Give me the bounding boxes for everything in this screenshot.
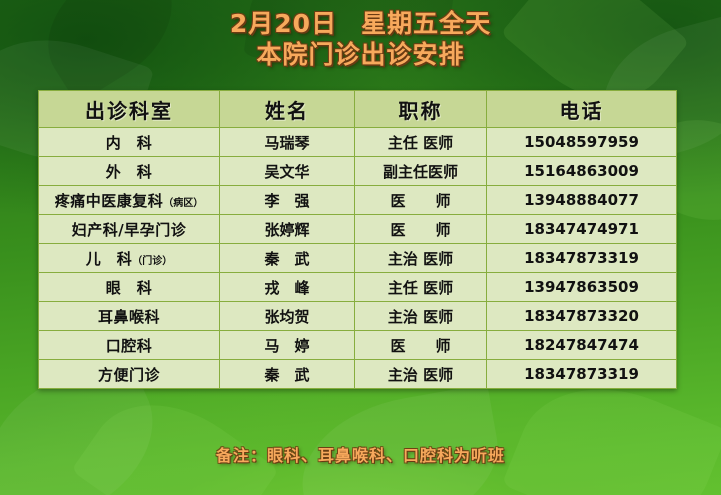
cell-title: 主任 医师 [355, 128, 487, 157]
leaf-decoration-icon [71, 372, 279, 495]
cell-title: 副主任医师 [355, 157, 487, 186]
cell-title: 医 师 [355, 215, 487, 244]
department-name: 眼 科 [106, 279, 153, 297]
cell-name: 秦 武 [220, 360, 355, 389]
table-row: 眼 科戎 峰主任 医师13947863509 [39, 273, 677, 302]
cell-name: 张婷辉 [220, 215, 355, 244]
clinic-schedule-poster: 2月20日星期五全天 本院门诊出诊安排 出诊科室 姓名 职称 电话 内 科马瑞琴… [0, 0, 721, 495]
department-name: 外 科 [106, 163, 153, 181]
cell-phone: 13948884077 [487, 186, 677, 215]
department-note: （病区） [163, 198, 203, 209]
cell-department: 疼痛中医康复科（病区） [39, 186, 220, 215]
cell-department: 口腔科 [39, 331, 220, 360]
cell-phone: 18247847474 [487, 331, 677, 360]
department-name: 妇产科/早孕门诊 [72, 221, 186, 239]
cell-department: 外 科 [39, 157, 220, 186]
cell-title: 主治 医师 [355, 302, 487, 331]
column-header-department: 出诊科室 [39, 91, 220, 128]
cell-name: 吴文华 [220, 157, 355, 186]
department-name: 耳鼻喉科 [98, 308, 160, 326]
table-header-row: 出诊科室 姓名 职称 电话 [39, 91, 677, 128]
cell-title: 医 师 [355, 186, 487, 215]
leaf-decoration-icon [290, 384, 510, 495]
department-name: 儿 科 [86, 250, 133, 268]
column-header-title: 职称 [355, 91, 487, 128]
department-name: 疼痛中医康复科 [55, 192, 164, 210]
table-row: 内 科马瑞琴主任 医师15048597959 [39, 128, 677, 157]
cell-department: 耳鼻喉科 [39, 302, 220, 331]
title-line-1: 2月20日星期五全天 [0, 8, 721, 39]
cell-department: 内 科 [39, 128, 220, 157]
table-row: 妇产科/早孕门诊张婷辉医 师18347474971 [39, 215, 677, 244]
cell-name: 李 强 [220, 186, 355, 215]
table-row: 儿 科（门诊）秦 武主治 医师18347873319 [39, 244, 677, 273]
cell-phone: 13947863509 [487, 273, 677, 302]
cell-name: 秦 武 [220, 244, 355, 273]
title-date: 2月20日 [230, 9, 337, 38]
cell-name: 戎 峰 [220, 273, 355, 302]
title-weekday: 星期五全天 [361, 9, 491, 38]
cell-phone: 15048597959 [487, 128, 677, 157]
title-line-2: 本院门诊出诊安排 [0, 39, 721, 70]
cell-name: 张均贺 [220, 302, 355, 331]
schedule-table: 出诊科室 姓名 职称 电话 内 科马瑞琴主任 医师15048597959外 科吴… [38, 90, 677, 389]
department-name: 内 科 [106, 134, 153, 152]
cell-phone: 18347873320 [487, 302, 677, 331]
cell-phone: 18347873319 [487, 244, 677, 273]
table-row: 外 科吴文华副主任医师15164863009 [39, 157, 677, 186]
table-row: 方便门诊秦 武主治 医师18347873319 [39, 360, 677, 389]
cell-phone: 18347873319 [487, 360, 677, 389]
table-row: 疼痛中医康复科（病区）李 强医 师13948884077 [39, 186, 677, 215]
poster-title: 2月20日星期五全天 本院门诊出诊安排 [0, 8, 721, 70]
cell-department: 儿 科（门诊） [39, 244, 220, 273]
column-header-phone: 电话 [487, 91, 677, 128]
footnote: 备注：眼科、耳鼻喉科、口腔科为听班 [0, 442, 721, 466]
column-header-name: 姓名 [220, 91, 355, 128]
table-row: 耳鼻喉科张均贺主治 医师18347873320 [39, 302, 677, 331]
cell-department: 方便门诊 [39, 360, 220, 389]
cell-title: 主治 医师 [355, 244, 487, 273]
department-note: （门诊） [132, 256, 172, 267]
cell-name: 马瑞琴 [220, 128, 355, 157]
cell-phone: 18347474971 [487, 215, 677, 244]
department-name: 方便门诊 [98, 366, 160, 384]
department-name: 口腔科 [106, 337, 153, 355]
cell-title: 医 师 [355, 331, 487, 360]
cell-title: 主治 医师 [355, 360, 487, 389]
table-row: 口腔科马 婷医 师18247847474 [39, 331, 677, 360]
cell-title: 主任 医师 [355, 273, 487, 302]
cell-phone: 15164863009 [487, 157, 677, 186]
cell-name: 马 婷 [220, 331, 355, 360]
cell-department: 妇产科/早孕门诊 [39, 215, 220, 244]
cell-department: 眼 科 [39, 273, 220, 302]
